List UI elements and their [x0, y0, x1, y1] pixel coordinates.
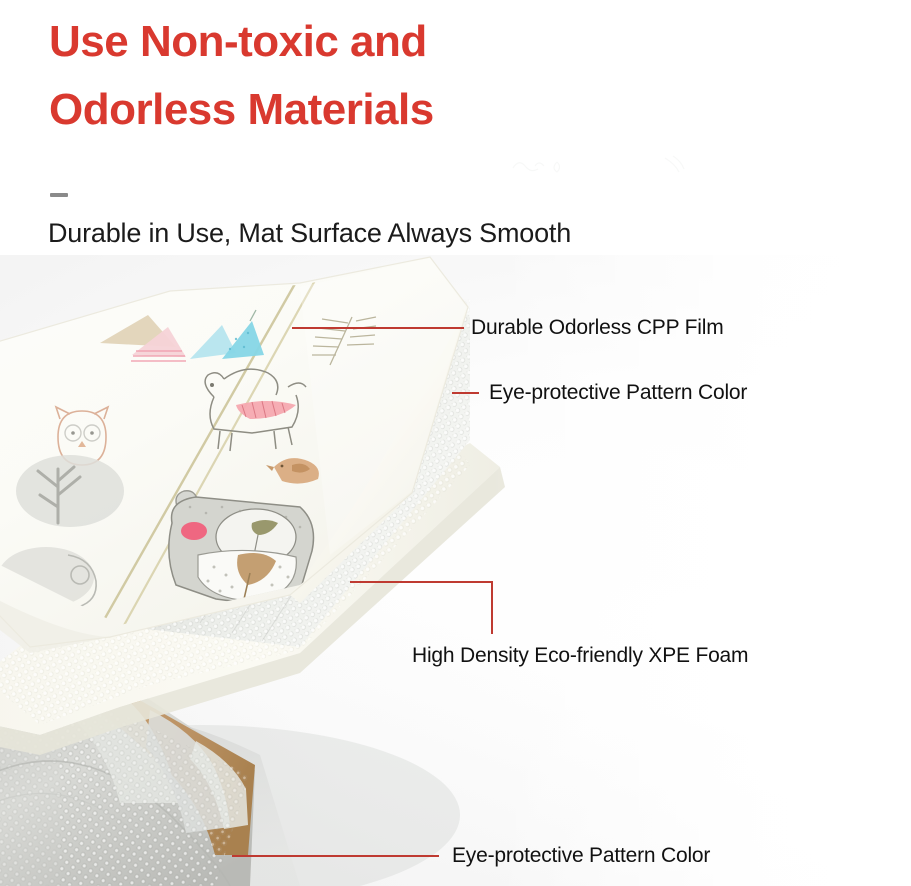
- callout-leader-pattern-color-bottom: [232, 855, 439, 857]
- page-title: Use Non-toxic and Odorless Materials: [49, 8, 689, 144]
- photo-right-fade: [491, 255, 911, 886]
- product-feature-panel: Use Non-toxic and Odorless Materials Dur…: [0, 0, 911, 886]
- title-divider: [50, 193, 68, 197]
- callout-label-xpe-foam: High Density Eco-friendly XPE Foam: [412, 645, 748, 666]
- product-photo: [0, 255, 911, 886]
- callout-label-pattern-color-bottom: Eye-protective Pattern Color: [452, 845, 710, 866]
- callout-leader-xpe-foam-horizontal: [350, 581, 493, 583]
- watermark-pattern-icon: [505, 150, 705, 180]
- callout-leader-xpe-foam-vertical: [491, 581, 493, 634]
- callout-label-cpp-film: Durable Odorless CPP Film: [471, 317, 724, 338]
- callout-label-pattern-color-top: Eye-protective Pattern Color: [489, 382, 747, 403]
- page-subtitle: Durable in Use, Mat Surface Always Smoot…: [48, 218, 571, 249]
- callout-leader-cpp-film: [292, 327, 464, 329]
- callout-leader-pattern-color-top: [452, 392, 479, 394]
